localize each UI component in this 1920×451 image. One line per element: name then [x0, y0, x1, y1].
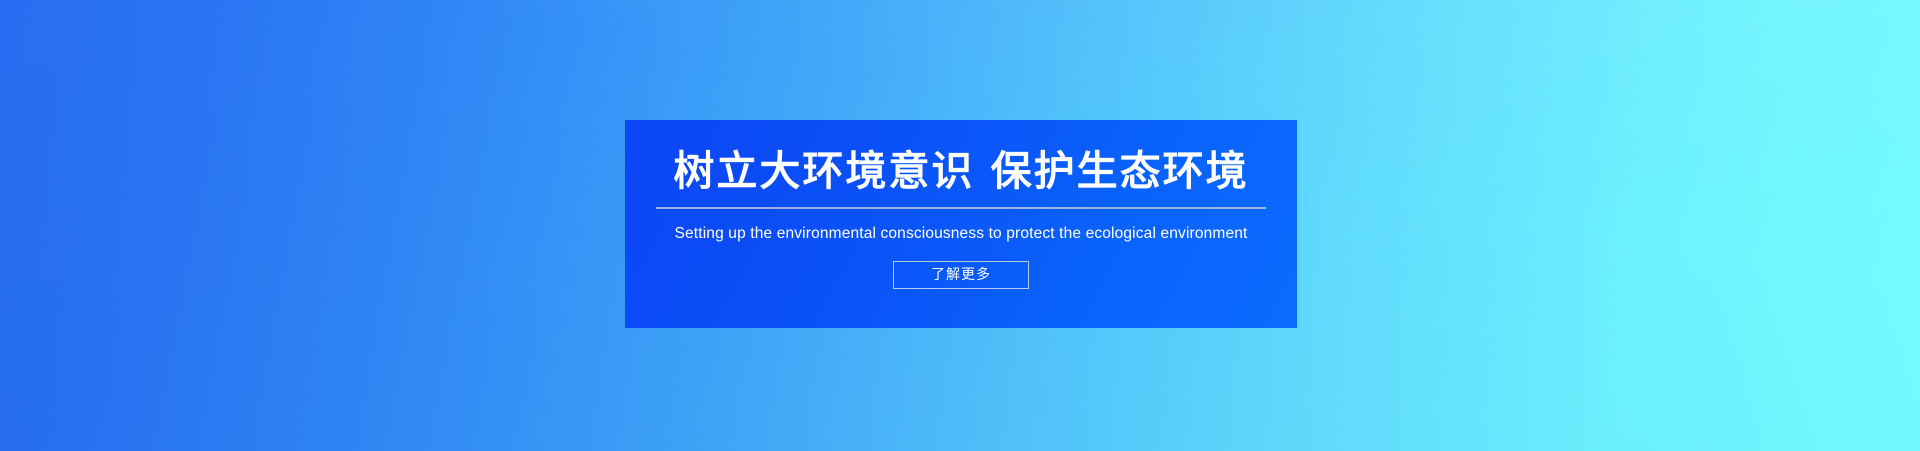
hero-content-panel: 树立大环境意识 保护生态环境 Setting up the environmen…: [625, 120, 1297, 328]
hero-content-inner: 树立大环境意识 保护生态环境 Setting up the environmen…: [625, 120, 1297, 328]
hero-subtitle: Setting up the environmental consciousne…: [675, 225, 1248, 243]
hero-banner: 树立大环境意识 保护生态环境 Setting up the environmen…: [0, 0, 1920, 451]
learn-more-button[interactable]: 了解更多: [893, 261, 1029, 289]
hero-headline: 树立大环境意识 保护生态环境: [673, 147, 1248, 195]
headline-divider: [656, 207, 1266, 209]
